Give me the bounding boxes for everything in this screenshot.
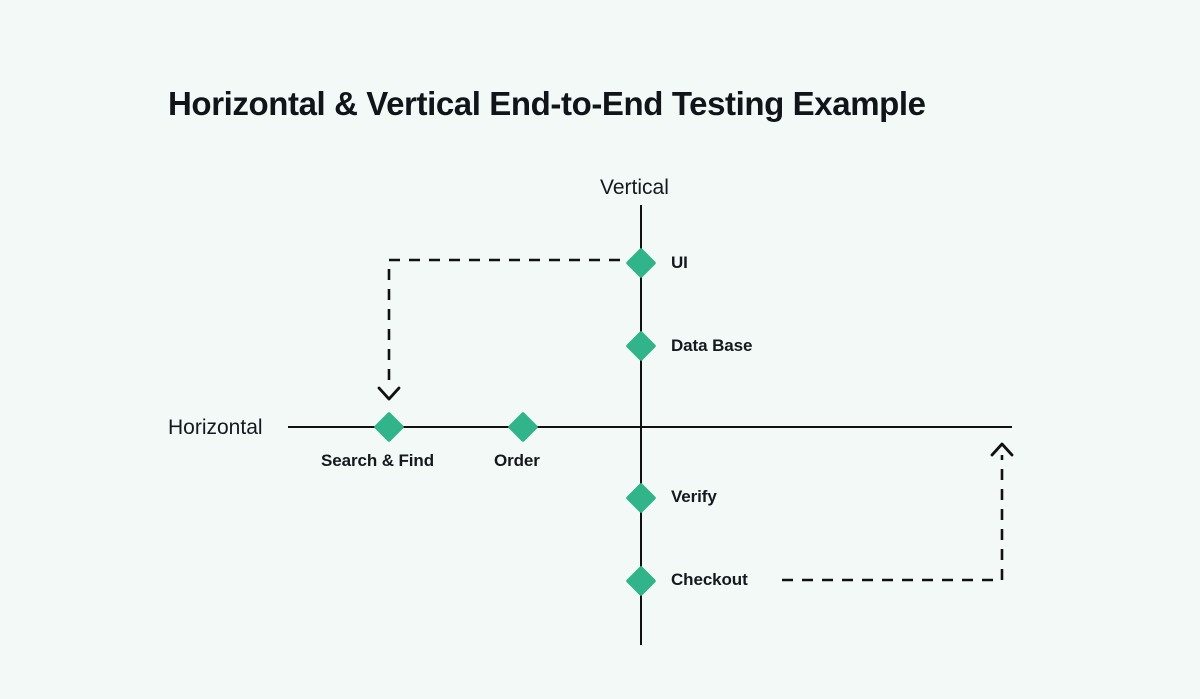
node-label-database: Data Base [671,336,752,356]
connector-checkout-to-axis [782,455,1002,580]
node-label-order: Order [494,451,540,471]
axis-label-vertical: Vertical [600,176,669,200]
diagram-canvas: Horizontal & Vertical End-to-End Testing… [0,0,1200,699]
node-marker-verify[interactable] [625,482,656,513]
arrowhead-down-icon [379,388,399,399]
node-label-verify: Verify [671,487,717,507]
node-marker-database[interactable] [625,330,656,361]
node-marker-checkout[interactable] [625,565,656,596]
diagram-graphics [0,0,1200,699]
node-marker-order[interactable] [507,411,538,442]
axis-label-horizontal: Horizontal [168,416,263,440]
arrowhead-up-icon [992,444,1012,455]
node-label-checkout: Checkout [671,570,748,590]
node-label-ui: UI [671,253,688,273]
node-marker-search[interactable] [373,411,404,442]
connector-ui-to-search [389,260,620,388]
node-marker-ui[interactable] [625,247,656,278]
node-label-search: Search & Find [321,451,434,471]
